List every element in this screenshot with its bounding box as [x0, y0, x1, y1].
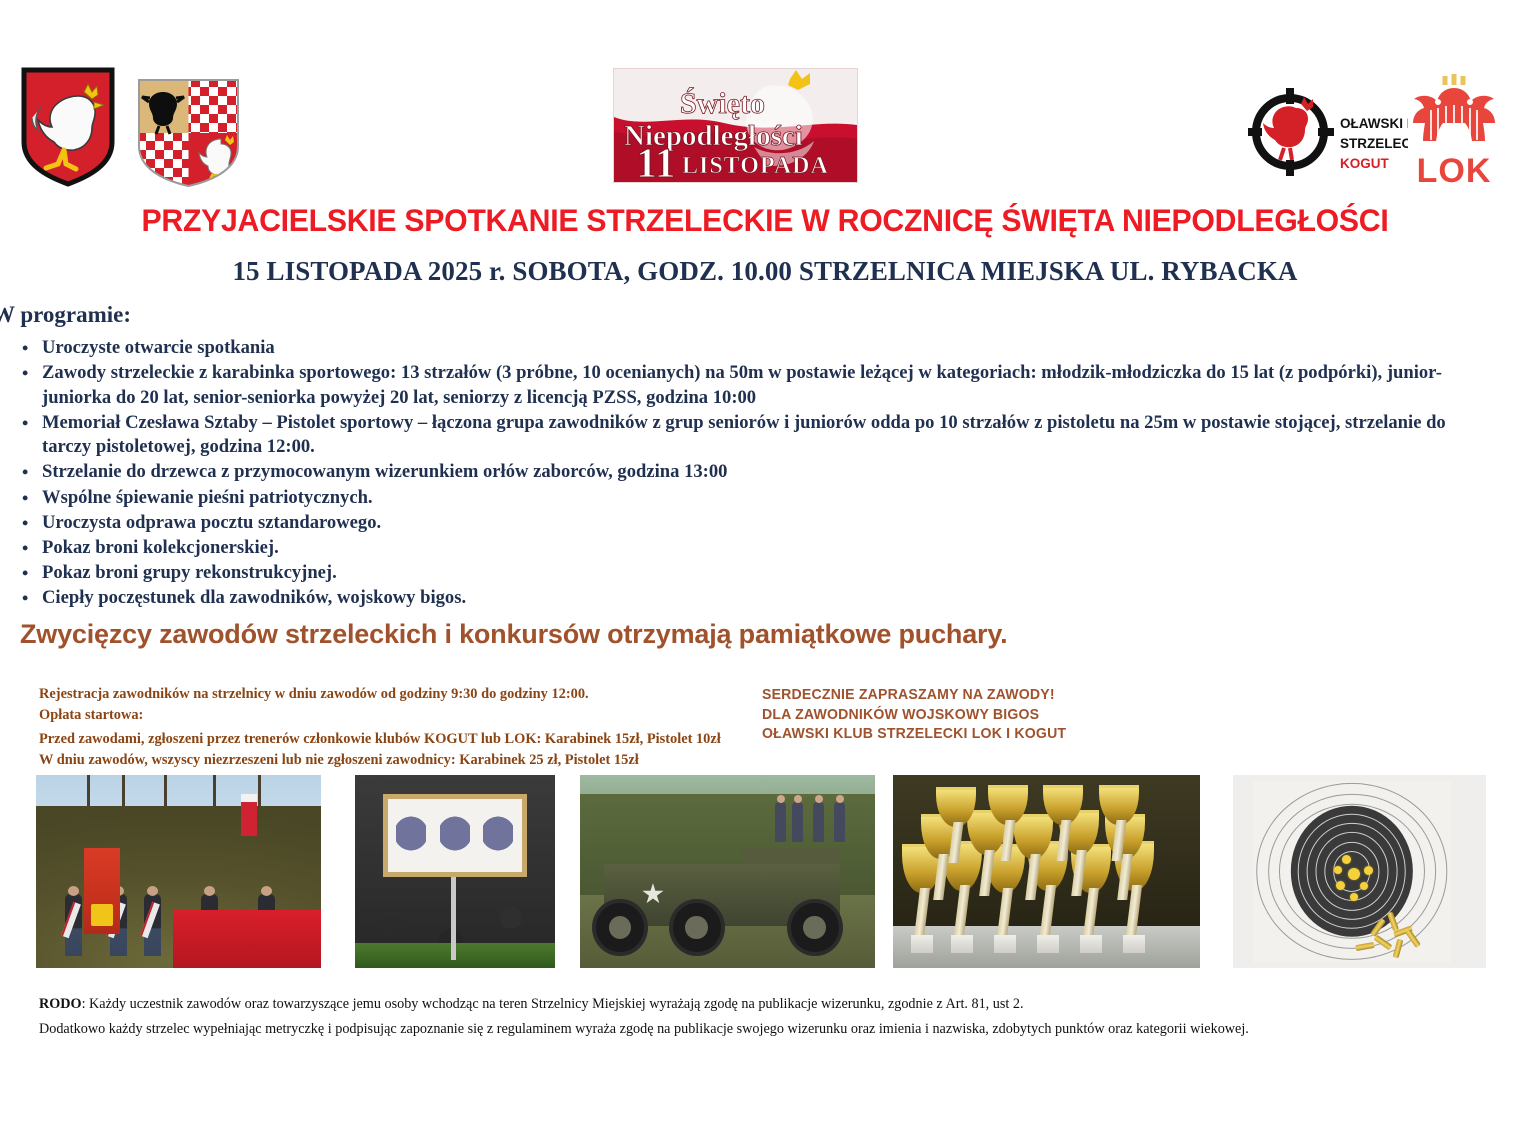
shooting-target-photo: [1233, 775, 1486, 968]
jeep-wheel: [592, 899, 648, 957]
jeep-wheel: [669, 899, 725, 957]
photo-strip: [0, 775, 1530, 970]
ceremony-photo: [36, 775, 321, 968]
program-item-text: Uroczysta odprawa pocztu sztandarowego.: [42, 512, 381, 533]
bullet-icon: •: [22, 561, 28, 586]
program-item-text: Ciepły poczęstunek dla zawodników, wojsk…: [42, 587, 466, 608]
lok-logo-icon: LOK: [1405, 72, 1503, 188]
invitation-line-3: OŁAWSKI KLUB STRZELECKI LOK I KOGUT: [762, 724, 1066, 744]
list-item: •Pokaz broni grupy rekonstrukcyjnej.: [0, 561, 1490, 586]
olawa-coat-of-arms-icon: [20, 66, 116, 188]
prussian-eagle-icon: [396, 811, 425, 856]
program-item-text: Zawody strzeleckie z karabinka sportoweg…: [42, 362, 1442, 408]
powiat-olawski-coat-of-arms-icon: [137, 78, 240, 188]
rodo-label: RODO: [39, 996, 82, 1012]
target-post: [451, 875, 456, 960]
bullet-icon: •: [22, 460, 28, 485]
jeep-wheel: [787, 899, 843, 957]
spectator: [792, 802, 803, 842]
bullet-icon: •: [22, 486, 28, 511]
list-item: •Memoriał Czesława Sztaby – Pistolet spo…: [0, 411, 1490, 460]
list-item: •Uroczysta odprawa pocztu sztandarowego.: [0, 511, 1490, 536]
standard-bearer: [65, 894, 82, 956]
military-jeep-photo: [580, 775, 875, 968]
program-item-text: Memoriał Czesława Sztaby – Pistolet spor…: [42, 412, 1446, 458]
program-item-text: Pokaz broni grupy rekonstrukcyjnej.: [42, 562, 337, 583]
kogut-club-logo-icon: OŁAWSKI KLUB STRZELECKI KOGUT: [1248, 78, 1408, 186]
rodo-line-1: RODO: Każdy uczestnik zawodów oraz towar…: [39, 992, 1379, 1017]
spectator: [813, 802, 824, 842]
program-item-text: Strzelanie do drzewca z przymocowanym wi…: [42, 461, 727, 482]
svg-text:KOGUT: KOGUT: [1340, 156, 1390, 171]
trophy-cup: [988, 785, 1028, 874]
list-item: •Wspólne śpiewanie pieśni patriotycznych…: [0, 486, 1490, 511]
registration-line-4: W dniu zawodów, wszyscy niezrzeszeni lub…: [39, 750, 739, 771]
poster-main-title: PRZYJACIELSKIE SPOTKANIE STRZELECKIE W R…: [31, 203, 1500, 237]
bullet-icon: •: [22, 511, 28, 536]
red-draped-table: [173, 910, 321, 968]
svg-text:Święto: Święto: [680, 87, 765, 120]
austrian-eagle-icon: [483, 811, 512, 856]
list-item: •Strzelanie do drzewca z przymocowanym w…: [0, 460, 1490, 485]
bullet-hole: [1364, 866, 1373, 875]
spectator: [775, 802, 786, 842]
bullet-icon: •: [22, 361, 28, 386]
ceremonial-standard: [84, 848, 120, 934]
poster-root: Święto Niepodległości 11 LISTOPADA OŁAWS…: [0, 0, 1530, 1147]
eagle-target-board: [383, 794, 527, 877]
registration-line-2: Opłata startowa:: [39, 705, 739, 726]
registration-line-3: Przed zawodami, zgłoszeni przez trenerów…: [39, 729, 739, 750]
list-item: •Ciepły poczęstunek dla zawodników, wojs…: [0, 586, 1490, 611]
invitation-block: SERDECZNIE ZAPRASZAMY NA ZAWODY! DLA ZAW…: [762, 685, 1066, 744]
sash: [140, 902, 160, 939]
registration-info-block: Rejestracja zawodników na strzelnicy w d…: [39, 684, 739, 771]
independence-day-banner: Święto Niepodległości 11 LISTOPADA: [613, 68, 858, 183]
bullet-icon: •: [22, 411, 28, 436]
svg-text:11: 11: [636, 141, 676, 182]
trophy-cup: [936, 787, 976, 876]
rodo-footer: RODO: Każdy uczestnik zawodów oraz towar…: [39, 992, 1379, 1042]
invitation-line-2: DLA ZAWODNIKÓW WOJSKOWY BIGOS: [762, 705, 1066, 725]
list-item: •Uroczyste otwarcie spotkania: [0, 336, 1490, 361]
prize-highlight-text: Zwycięzcy zawodów strzeleckich i konkurs…: [20, 619, 1007, 650]
eagles-target-photo: [355, 775, 555, 968]
rodo-text-1: : Każdy uczestnik zawodów oraz towarzysz…: [82, 996, 1024, 1012]
invitation-line-1: SERDECZNIE ZAPRASZAMY NA ZAWODY!: [762, 685, 1066, 705]
poster-subtitle: 15 LISTOPADA 2025 r. SOBOTA, GODZ. 10.00…: [0, 256, 1530, 287]
registration-line-1: Rejestracja zawodników na strzelnicy w d…: [39, 684, 739, 705]
list-item: •Zawody strzeleckie z karabinka sportowe…: [0, 361, 1490, 410]
program-heading: W programie:: [0, 302, 131, 328]
list-item: •Pokaz broni kolekcjonerskiej.: [0, 536, 1490, 561]
svg-text:LOK: LOK: [1417, 152, 1492, 188]
svg-text:LISTOPADA: LISTOPADA: [682, 153, 829, 179]
bullet-icon: •: [22, 536, 28, 561]
program-item-text: Uroczyste otwarcie spotkania: [42, 337, 275, 358]
target-sheet: [1253, 781, 1450, 962]
program-item-text: Wspólne śpiewanie pieśni patriotycznych.: [42, 487, 373, 508]
trophy-cup: [1099, 785, 1139, 874]
program-list: •Uroczyste otwarcie spotkania •Zawody st…: [0, 336, 1490, 611]
svg-text:OŁAWSKI KLUB: OŁAWSKI KLUB: [1340, 116, 1408, 131]
trophy-cup: [1043, 785, 1083, 874]
bullet-hole: [1348, 868, 1360, 880]
trophies-photo: [893, 775, 1200, 968]
bullet-icon: •: [22, 336, 28, 361]
program-item-text: Pokaz broni kolekcjonerskiej.: [42, 537, 279, 558]
standard-bearer: [144, 894, 161, 956]
rodo-line-2: Dodatkowo każdy strzelec wypełniając met…: [39, 1017, 1379, 1042]
polish-flag: [241, 794, 257, 836]
svg-text:STRZELECKI: STRZELECKI: [1340, 136, 1408, 151]
bullet-hole: [1336, 881, 1345, 890]
header-logos: Święto Niepodległości 11 LISTOPADA OŁAWS…: [0, 0, 1530, 200]
spectator: [834, 802, 845, 842]
russian-eagle-icon: [440, 811, 469, 856]
bullet-icon: •: [22, 586, 28, 611]
